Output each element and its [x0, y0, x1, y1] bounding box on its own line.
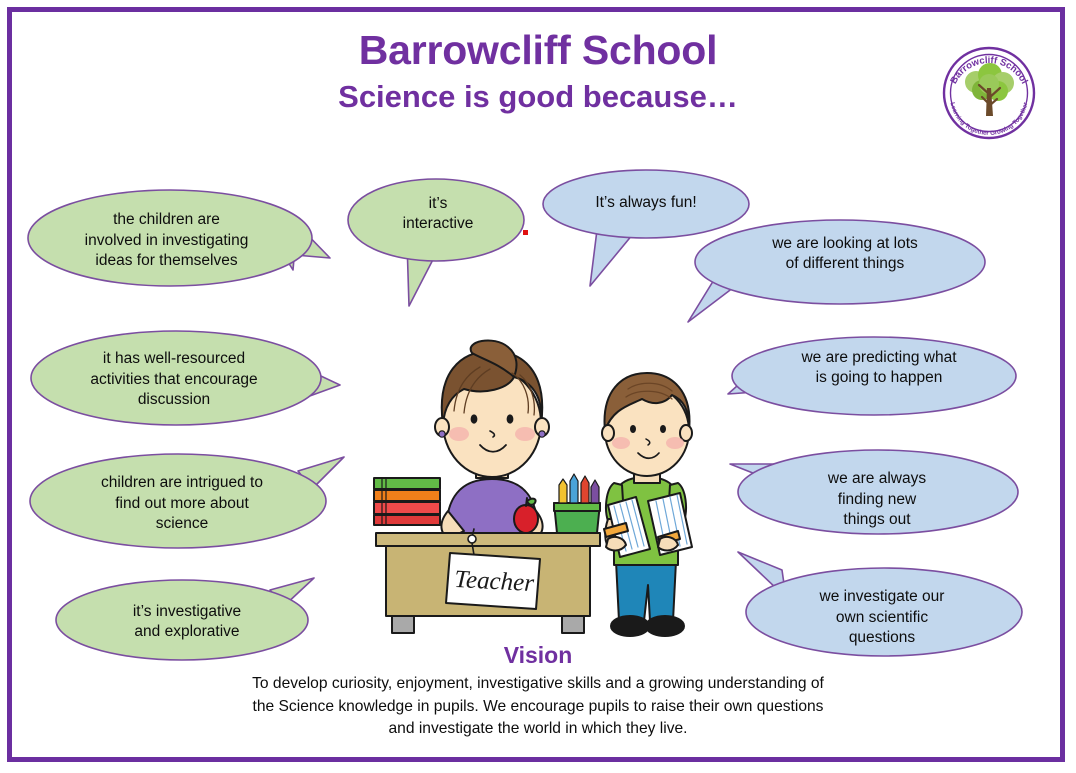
desk-sign-label: Teacher: [454, 566, 535, 597]
bubble-lots-different-things[interactable]: we are looking at lots of different thin…: [688, 212, 988, 330]
bubble-predicting[interactable]: we are predicting what is going to happe…: [728, 332, 1020, 432]
vision-heading: Vision: [0, 642, 1076, 669]
vision-line: and investigate the world in which they …: [188, 718, 888, 741]
school-logo: Barrowcliff School Learning Together Gro…: [938, 42, 1040, 144]
vision-line: the Science knowledge in pupils. We enco…: [188, 696, 888, 719]
bubble-children-investigating[interactable]: the children are involved in investigati…: [25, 186, 330, 296]
page-title: Barrowcliff School: [0, 28, 1076, 74]
bubble-intrigued-find-out[interactable]: children are intrigued to find out more …: [26, 443, 344, 555]
vision-body: To develop curiosity, enjoyment, investi…: [188, 673, 888, 741]
poster-header: Barrowcliff School Science is good becau…: [0, 28, 1076, 115]
poster-canvas: Barrowcliff School Science is good becau…: [0, 0, 1076, 773]
page-subtitle: Science is good because…: [0, 78, 1076, 115]
bubble-finding-new-things[interactable]: we are always finding new things out: [730, 440, 1020, 552]
red-dot-marker: [523, 230, 528, 235]
teacher-pupil-illustration: Teacher: [368, 333, 708, 648]
vision-line: To develop curiosity, enjoyment, investi…: [188, 673, 888, 696]
bubble-interactive[interactable]: it’s interactive: [345, 172, 531, 312]
bubble-well-resourced[interactable]: it has well-resourced activities that en…: [28, 325, 340, 435]
